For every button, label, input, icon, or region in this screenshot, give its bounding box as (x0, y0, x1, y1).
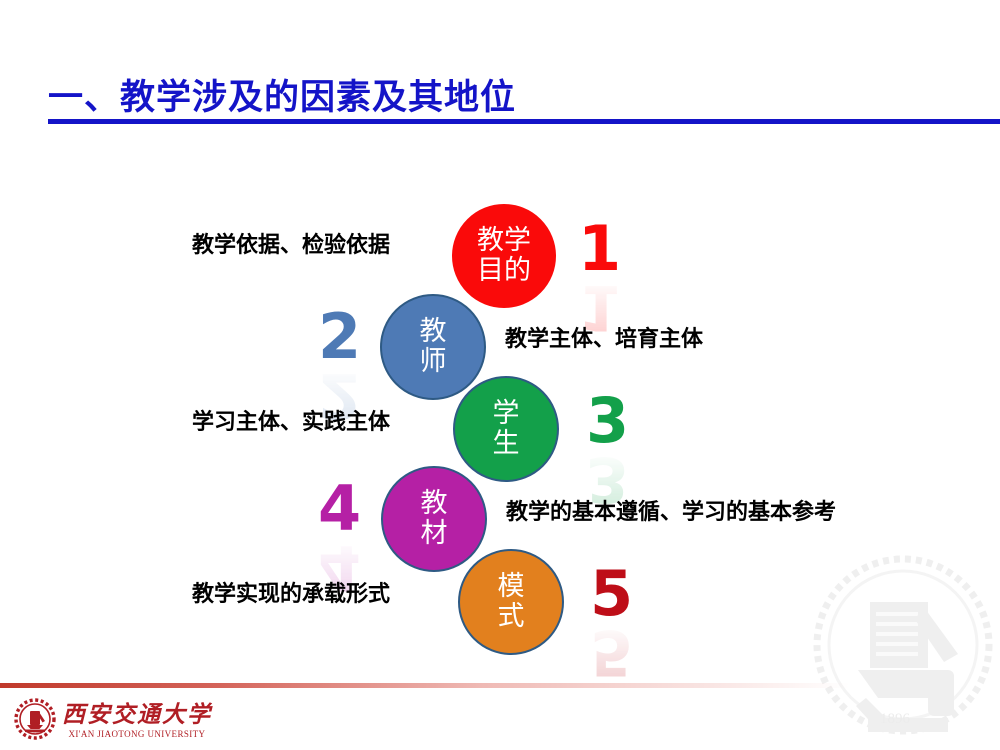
node-number-5: 5 5 (590, 563, 633, 683)
footer-divider (0, 683, 1000, 688)
university-logo-text: 西安交通大学 XI'AN JIAOTONG UNIVERSITY (62, 702, 212, 740)
node-circle-3-text-bottom: 生 (493, 429, 520, 459)
node-circle-2[interactable]: 教 师 (380, 294, 486, 400)
node-number-3: 3 3 (586, 390, 629, 510)
slide-canvas: 一、教学涉及的因素及其地位 教学依据、检验依据 教学 目的 1 1 2 2 教 (0, 0, 1000, 750)
node-label-1: 教学依据、检验依据 (40, 233, 390, 259)
node-number-4-value: 4 (318, 478, 361, 540)
node-circle-1[interactable]: 教学 目的 (452, 204, 556, 308)
watermark-year: 1896 (880, 711, 910, 728)
node-circle-2-text-top: 教 (420, 317, 447, 347)
node-number-5-value: 5 (590, 563, 633, 625)
node-circle-5[interactable]: 模 式 (458, 549, 564, 655)
node-circle-1-text-top: 教学 (477, 226, 531, 256)
svg-text:1896: 1896 (31, 730, 39, 735)
node-label-5: 教学实现的承载形式 (40, 582, 390, 608)
node-number-3-value: 3 (586, 390, 629, 452)
node-number-2-value: 2 (318, 306, 361, 368)
node-number-1: 1 1 (578, 218, 621, 338)
node-number-2: 2 2 (318, 306, 361, 426)
node-circle-4[interactable]: 教 材 (381, 466, 487, 572)
node-number-1-value: 1 (578, 218, 621, 280)
node-circle-5-text-top: 模 (498, 572, 525, 602)
university-name-en: XI'AN JIAOTONG UNIVERSITY (69, 729, 206, 740)
university-emblem-watermark: 1896 (808, 550, 998, 750)
node-label-3: 学习主体、实践主体 (40, 410, 390, 436)
gear-emblem-icon: 1896 (14, 698, 56, 745)
university-logo: 1896 西安交通大学 XI'AN JIAOTONG UNIVERSITY (14, 698, 214, 744)
node-label-2: 教学主体、培育主体 (505, 327, 925, 353)
node-circle-1-text-bottom: 目的 (477, 256, 531, 286)
node-number-4: 4 4 (318, 478, 361, 598)
node-circle-3-text-top: 学 (493, 399, 520, 429)
node-circle-4-text-bottom: 材 (421, 519, 448, 549)
node-number-5-reflection: 5 (590, 621, 633, 683)
node-circle-3[interactable]: 学 生 (453, 376, 559, 482)
node-label-4: 教学的基本遵循、学习的基本参考 (506, 500, 966, 526)
node-circle-4-text-top: 教 (421, 489, 448, 519)
node-circle-5-text-bottom: 式 (498, 602, 525, 632)
university-name-cn: 西安交通大学 (62, 702, 212, 728)
node-circle-2-text-bottom: 师 (420, 347, 447, 377)
